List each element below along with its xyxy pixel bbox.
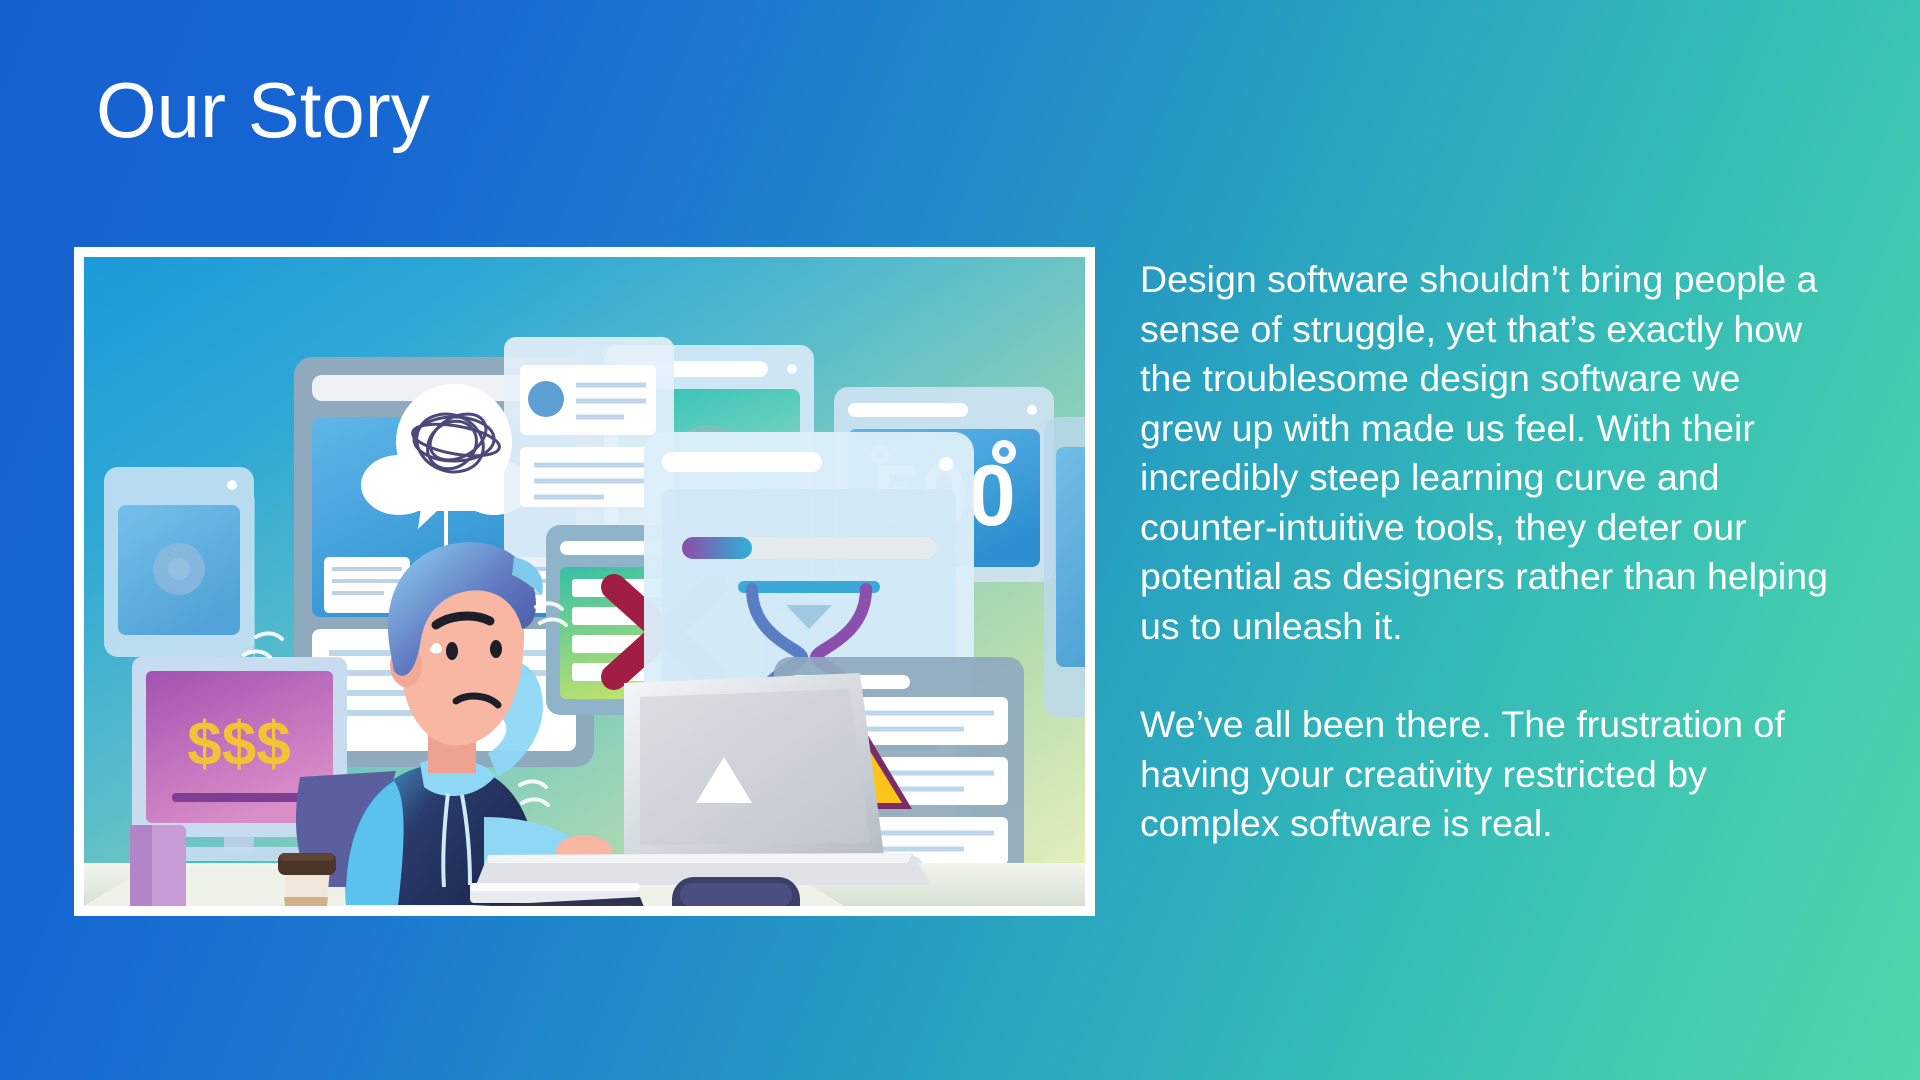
body-text-block: Design software shouldn’t bring people a…	[1140, 255, 1830, 849]
money-label: $$$	[187, 710, 290, 779]
page-title: Our Story	[96, 68, 430, 154]
paragraph-spacer	[1140, 651, 1830, 700]
desk-device	[672, 877, 800, 906]
body-paragraph-1: Design software shouldn’t bring people a…	[1140, 255, 1830, 651]
slide-canvas: Our Story	[0, 0, 1920, 1080]
window-card-gear-left	[104, 467, 254, 657]
illustration-image: 500	[84, 257, 1085, 906]
illustration-frame: 500	[74, 247, 1095, 916]
illustration-svg: 500	[84, 257, 1085, 906]
body-paragraph-2: We’ve all been there. The frustration of…	[1140, 700, 1830, 849]
window-card-right-edge	[1044, 417, 1085, 717]
